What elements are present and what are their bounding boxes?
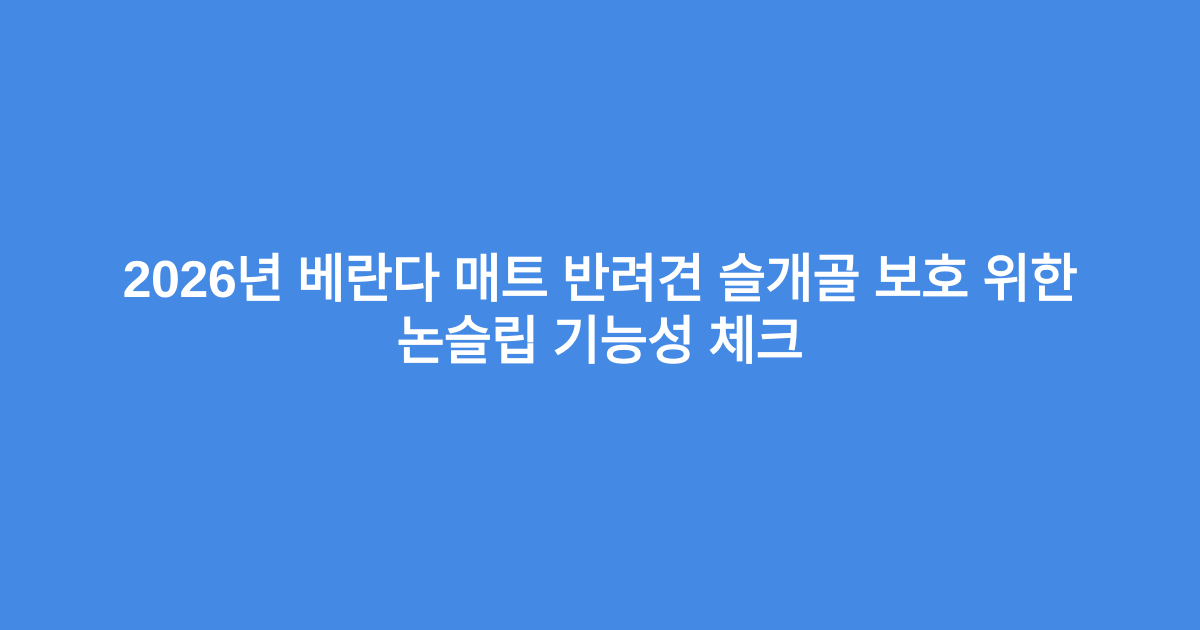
og-card: 2026년 베란다 매트 반려견 슬개골 보호 위한 논슬립 기능성 체크 <box>0 0 1200 630</box>
page-title: 2026년 베란다 매트 반려견 슬개골 보호 위한 논슬립 기능성 체크 <box>100 249 1100 373</box>
title-block: 2026년 베란다 매트 반려견 슬개골 보호 위한 논슬립 기능성 체크 <box>100 249 1100 373</box>
